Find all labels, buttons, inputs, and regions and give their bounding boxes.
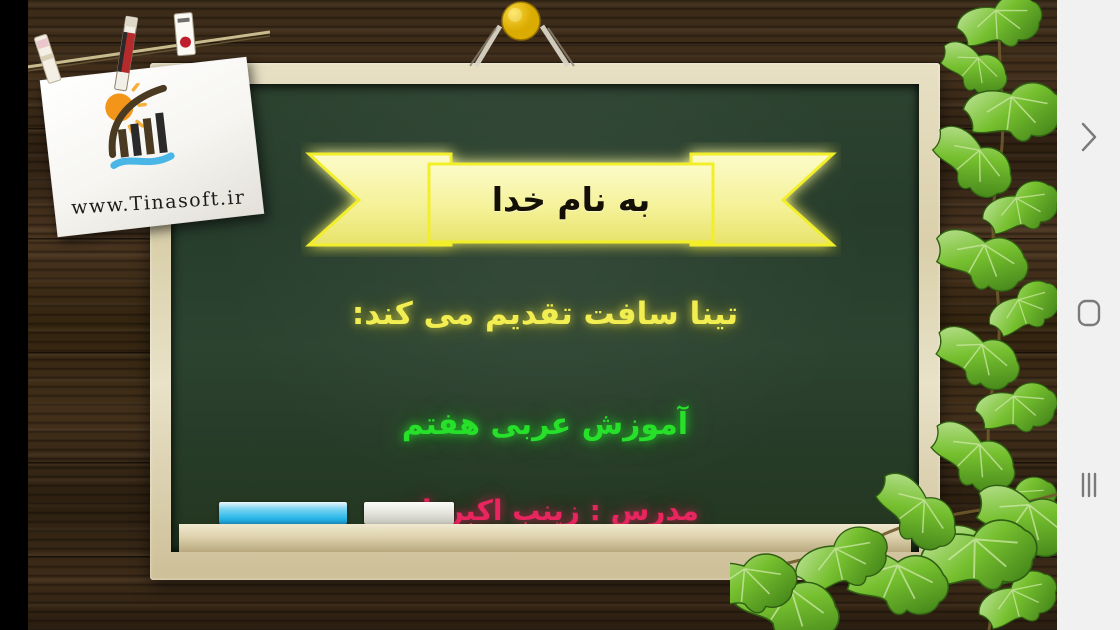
letterbox-left [0, 0, 28, 630]
chevron-right-icon [1078, 120, 1100, 154]
android-navigation-bar [1057, 0, 1120, 630]
clothespins-and-pen [20, 10, 270, 130]
banner-ribbon: به نام خدا [301, 142, 841, 257]
banner-text: به نام خدا [301, 142, 841, 257]
rounded-square-icon [1076, 298, 1102, 328]
tinasoft-url-text: www.Tinasoft.ir [54, 185, 263, 220]
chalk-ledge [179, 524, 911, 552]
course-title: آموزش عربی هفتم [171, 407, 919, 442]
chalkboard: به نام خدا تینا سافت تقدیم می کند: آموزش… [150, 63, 940, 580]
three-bars-icon [1077, 471, 1101, 499]
eraser-white [364, 502, 454, 524]
chalkboard-surface: به نام خدا تینا سافت تقدیم می کند: آموزش… [171, 84, 919, 552]
eraser-blue [219, 502, 347, 524]
screen: به نام خدا تینا سافت تقدیم می کند: آموزش… [0, 0, 1120, 630]
presenter-line: تینا سافت تقدیم می کند: [171, 296, 919, 332]
nav-recents-button[interactable] [1057, 455, 1120, 515]
nav-back-button[interactable] [1057, 107, 1120, 167]
nav-home-button[interactable] [1057, 283, 1120, 343]
